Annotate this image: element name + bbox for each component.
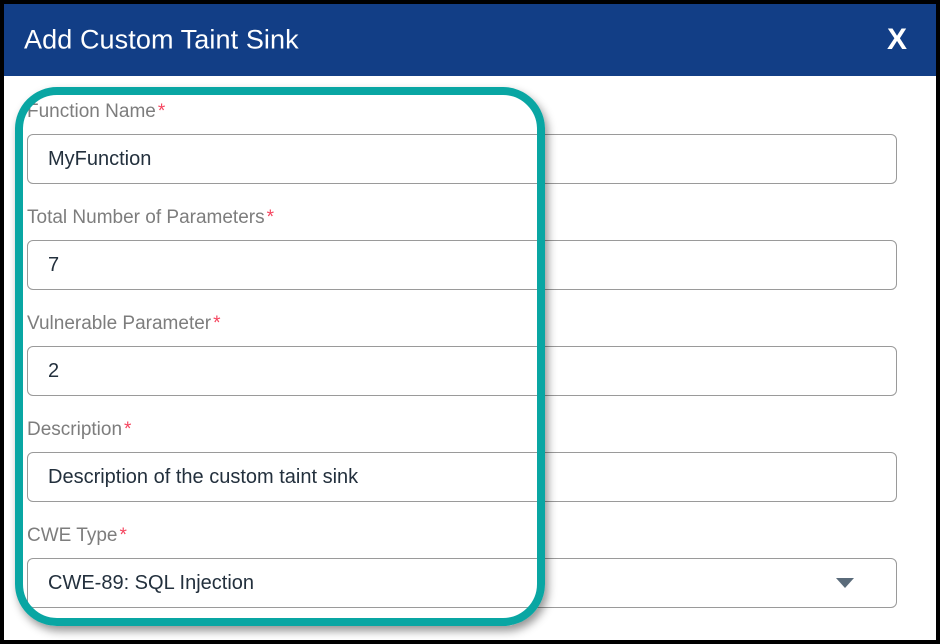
label-text: Vulnerable Parameter xyxy=(27,313,211,334)
close-button[interactable]: X xyxy=(880,23,914,57)
input-value: 2 xyxy=(48,361,59,381)
required-asterisk: * xyxy=(213,313,220,334)
total-number-of-parameters-input[interactable]: 7 xyxy=(27,240,897,290)
input-value: Description of the custom taint sink xyxy=(48,467,358,487)
dialog-title: Add Custom Taint Sink xyxy=(24,25,299,56)
cwe-type-select[interactable]: CWE-89: SQL Injection xyxy=(27,558,897,608)
label-text: Description xyxy=(27,419,122,440)
label-text: Total Number of Parameters xyxy=(27,207,265,228)
required-asterisk: * xyxy=(267,207,274,228)
field-label-vulnerable-parameter: Vulnerable Parameter* xyxy=(27,314,221,333)
dialog-header: Add Custom Taint Sink X xyxy=(4,4,936,76)
field-label-function-name: Function Name* xyxy=(27,102,165,121)
select-value: CWE-89: SQL Injection xyxy=(48,573,254,593)
required-asterisk: * xyxy=(124,419,131,440)
description-input[interactable]: Description of the custom taint sink xyxy=(27,452,897,502)
screenshot-root: Add Custom Taint Sink X Function Name* M… xyxy=(0,0,940,644)
chevron-down-icon[interactable] xyxy=(836,578,854,588)
field-label-description: Description* xyxy=(27,420,131,439)
function-name-input[interactable]: MyFunction xyxy=(27,134,897,184)
field-label-total-number-of-parameters: Total Number of Parameters* xyxy=(27,208,274,227)
dialog-body: Function Name* MyFunction Total Number o… xyxy=(4,76,936,640)
dialog-window: Add Custom Taint Sink X Function Name* M… xyxy=(4,4,936,640)
required-asterisk: * xyxy=(158,101,165,122)
input-value: MyFunction xyxy=(48,149,151,169)
field-label-cwe-type: CWE Type* xyxy=(27,526,127,545)
input-value: 7 xyxy=(48,255,59,275)
close-x-icon: X xyxy=(887,25,907,55)
vulnerable-parameter-input[interactable]: 2 xyxy=(27,346,897,396)
required-asterisk: * xyxy=(119,525,126,546)
label-text: CWE Type xyxy=(27,525,117,546)
label-text: Function Name xyxy=(27,101,156,122)
